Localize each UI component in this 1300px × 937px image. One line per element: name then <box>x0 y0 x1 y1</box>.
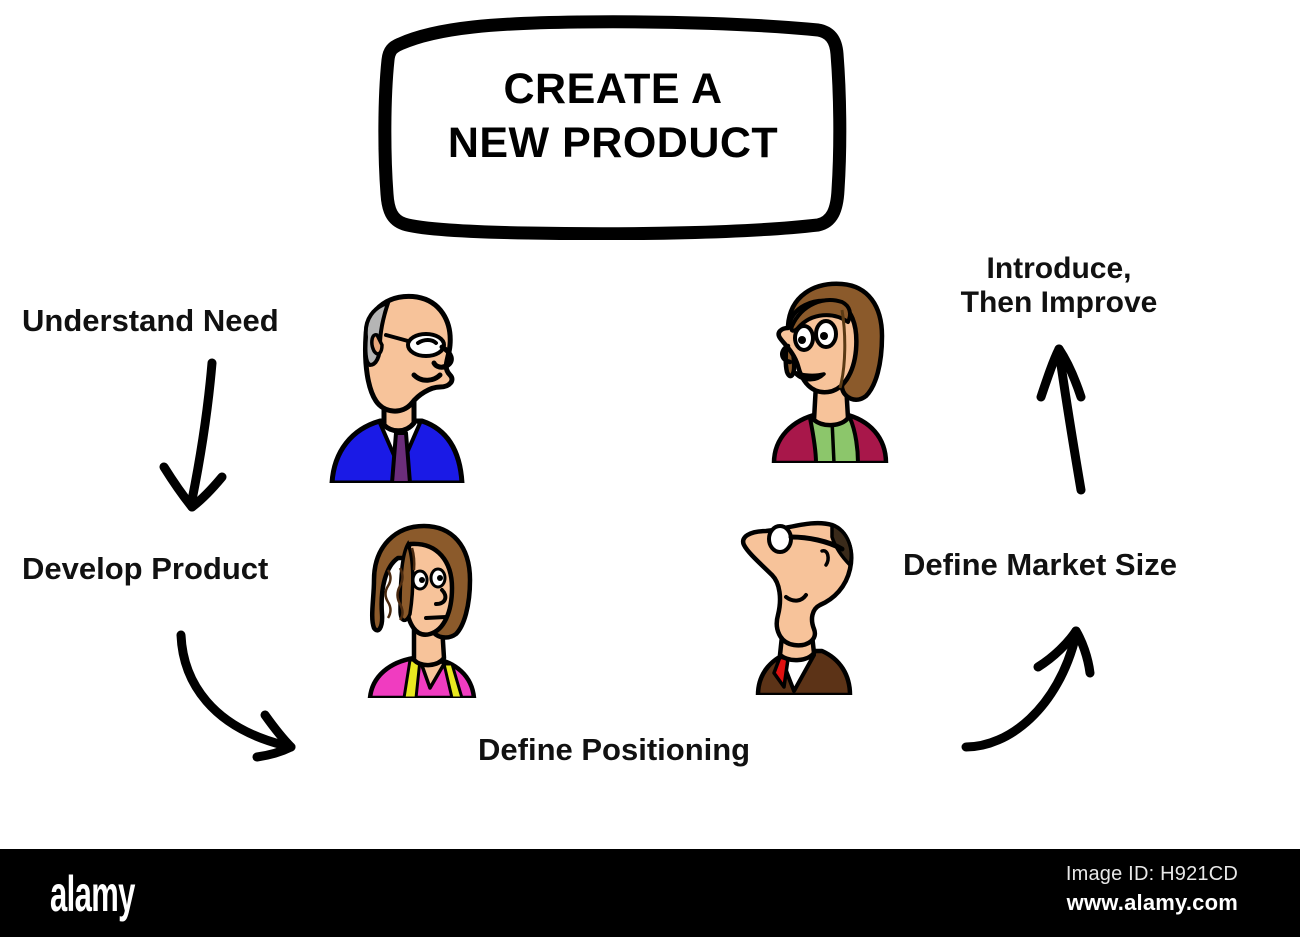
step-label-define-positioning: Define Positioning <box>478 733 750 768</box>
image-id-text: Image ID: H921CD <box>1066 863 1238 886</box>
arrow-market-to-introduce-icon <box>1025 335 1130 500</box>
arrow-develop-to-positioning-icon <box>165 605 330 775</box>
arrow-positioning-to-market-icon <box>950 605 1115 775</box>
title-callout-box: CREATE A NEW PRODUCT <box>378 14 848 240</box>
character-woman-green-shirt <box>758 278 898 463</box>
step-label-understand-need: Understand Need <box>22 304 279 339</box>
page-title: CREATE A NEW PRODUCT <box>378 62 848 170</box>
character-woman-pink-top <box>352 518 492 698</box>
step-label-introduce-then-improve: Introduce, Then Improve <box>938 252 1180 319</box>
arrow-understand-to-develop-icon <box>150 355 260 520</box>
diagram-canvas: CREATE A NEW PRODUCT Understand Need Dev… <box>0 0 1300 937</box>
character-bald-man-brown-suit <box>736 505 866 695</box>
watermark-footer-bar: alamy Image ID: H921CD www.alamy.com <box>0 849 1300 937</box>
alamy-url-text: www.alamy.com <box>1066 890 1238 916</box>
character-older-businessman <box>322 283 472 483</box>
footer-metadata: Image ID: H921CD www.alamy.com <box>1066 863 1238 916</box>
step-label-develop-product: Develop Product <box>22 552 268 587</box>
step-label-define-market-size: Define Market Size <box>903 548 1177 583</box>
alamy-logo: alamy <box>50 865 135 923</box>
